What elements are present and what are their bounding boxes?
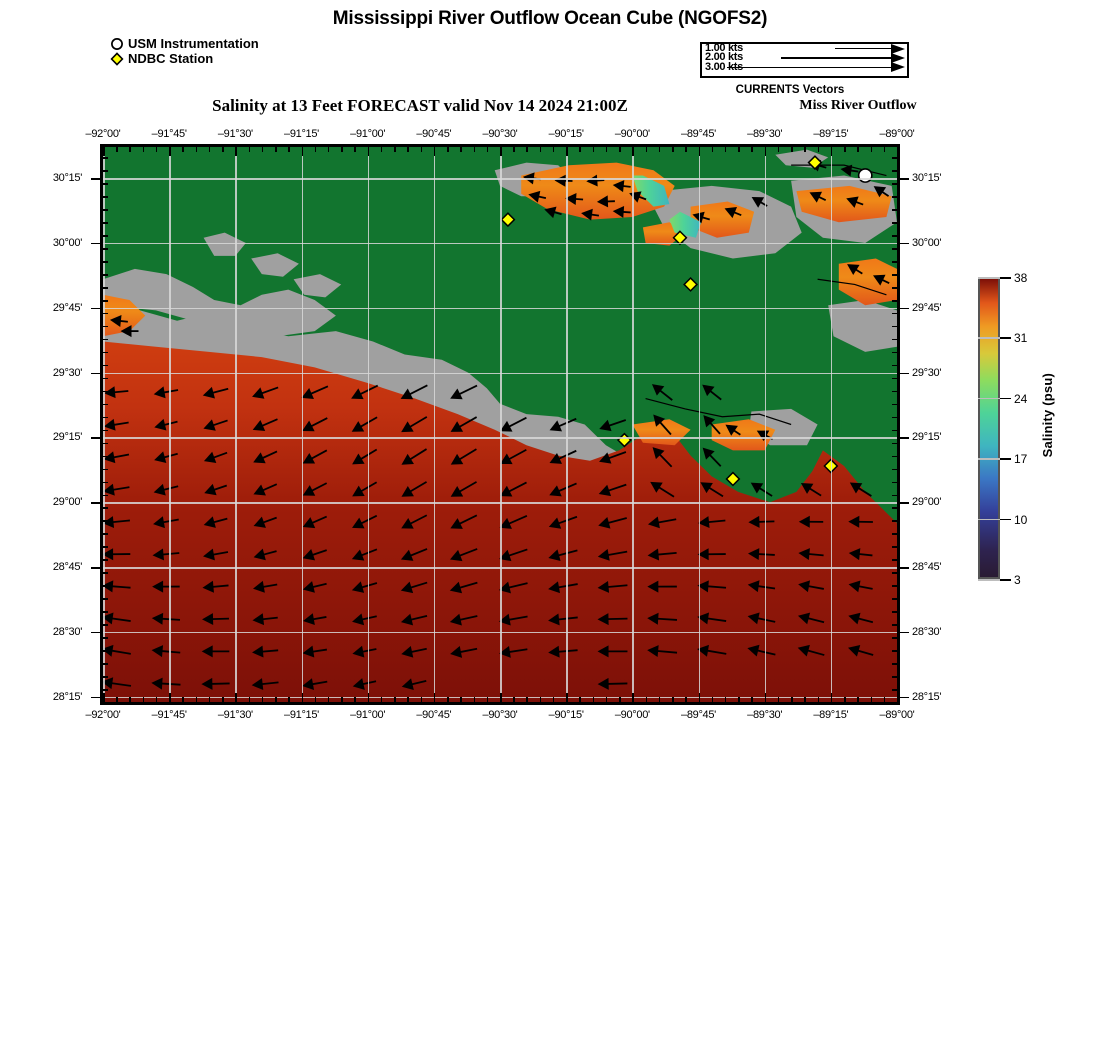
axis-tick-minor (791, 147, 793, 152)
axis-tick-major (91, 308, 100, 310)
axis-tick-minor (447, 697, 449, 702)
axis-label-latitude: 28°30' (22, 626, 82, 638)
axis-tick-minor (103, 507, 108, 509)
axis-label-longitude: –89°45' (664, 709, 734, 721)
axis-tick-minor (262, 697, 264, 702)
axis-label-latitude: 28°45' (22, 561, 82, 573)
vector-key-shaft (727, 67, 891, 68)
axis-tick-minor (892, 274, 897, 276)
axis-tick-minor (103, 313, 108, 315)
colorbar: Salinity (psu) 31017243138 (978, 277, 1000, 579)
colorbar-tick (1000, 579, 1011, 581)
colorbar-title: Salinity (psu) (1040, 373, 1055, 457)
axis-tick-minor (579, 697, 581, 702)
axis-label-latitude: 30°15' (22, 172, 82, 184)
outflow-label: Miss River Outflow (768, 98, 948, 114)
axis-label-longitude: –90°45' (399, 128, 469, 140)
axis-tick-minor (354, 697, 356, 702)
axis-tick-minor (593, 147, 595, 152)
axis-label-latitude: 30°00' (912, 237, 972, 249)
gridline-longitude (169, 147, 171, 702)
axis-tick-minor (222, 697, 224, 702)
axis-tick-minor (354, 147, 356, 152)
axis-tick-minor (892, 495, 897, 497)
axis-tick-minor (892, 430, 897, 432)
axis-tick-minor (778, 147, 780, 152)
station-legend: USM Instrumentation NDBC Station (110, 36, 259, 66)
colorbar-segment-divider (978, 398, 1000, 400)
axis-tick-minor (778, 697, 780, 702)
axis-tick-minor (553, 697, 555, 702)
axis-tick-minor (103, 404, 108, 406)
axis-tick-minor (892, 559, 897, 561)
colorbar-tick-label: 3 (1014, 573, 1021, 585)
axis-tick-minor (421, 697, 423, 702)
axis-tick-minor (892, 157, 897, 159)
axis-tick-minor (892, 235, 897, 237)
axis-tick-major (699, 693, 701, 702)
axis-tick-minor (328, 697, 330, 702)
axis-tick-minor (103, 378, 108, 380)
axis-label-longitude: –92°00' (68, 709, 138, 721)
axis-tick-minor (103, 170, 108, 172)
axis-tick-major (434, 693, 436, 702)
gridline-longitude (235, 147, 237, 702)
gridline-longitude (103, 147, 105, 702)
axis-tick-minor (103, 676, 108, 678)
axis-tick-minor (103, 520, 108, 522)
axis-label-longitude: –90°15' (531, 709, 601, 721)
gridline-longitude (831, 147, 833, 702)
axis-tick-minor (103, 650, 108, 652)
axis-tick-minor (513, 697, 515, 702)
axis-tick-minor (196, 697, 198, 702)
circle-marker-icon (110, 37, 124, 51)
axis-tick-minor (892, 339, 897, 341)
axis-tick-minor (892, 702, 897, 704)
axis-tick-minor (892, 482, 897, 484)
axis-tick-minor (129, 697, 131, 702)
axis-tick-minor (103, 663, 108, 665)
axis-label-longitude: –90°00' (597, 709, 667, 721)
axis-tick-minor (288, 697, 290, 702)
axis-tick-major (91, 437, 100, 439)
axis-tick-minor (103, 689, 108, 691)
usm-instrumentation-marker[interactable] (859, 169, 872, 182)
diamond-marker-icon (110, 52, 124, 66)
axis-label-longitude: –90°00' (597, 128, 667, 140)
axis-tick-minor (884, 697, 886, 702)
colorbar-tick-label: 38 (1014, 271, 1027, 283)
axis-tick-minor (857, 147, 859, 152)
axis-tick-minor (540, 697, 542, 702)
axis-tick-minor (540, 147, 542, 152)
axis-label-longitude: –89°15' (796, 128, 866, 140)
axis-tick-minor (103, 430, 108, 432)
axis-tick-minor (103, 702, 108, 704)
axis-tick-minor (672, 697, 674, 702)
axis-tick-minor (103, 274, 108, 276)
axis-tick-minor (892, 209, 897, 211)
axis-label-longitude: –89°30' (730, 709, 800, 721)
axis-tick-minor (725, 697, 727, 702)
axis-tick-major (831, 147, 833, 156)
axis-tick-minor (892, 391, 897, 393)
axis-tick-major (235, 147, 237, 156)
axis-tick-major (900, 567, 909, 569)
axis-tick-minor (892, 300, 897, 302)
axis-tick-minor (892, 650, 897, 652)
axis-tick-minor (460, 147, 462, 152)
axis-tick-minor (818, 147, 820, 152)
axis-tick-major (103, 693, 105, 702)
axis-tick-minor (725, 147, 727, 152)
axis-label-latitude: 28°30' (912, 626, 972, 638)
axis-tick-major (103, 147, 105, 156)
axis-tick-major (900, 373, 909, 375)
axis-tick-major (900, 437, 909, 439)
axis-tick-minor (892, 546, 897, 548)
axis-tick-minor (553, 147, 555, 152)
axis-label-latitude: 29°45' (912, 302, 972, 314)
axis-tick-minor (659, 697, 661, 702)
colorbar-segment-divider (978, 277, 1000, 279)
axis-tick-minor (892, 313, 897, 315)
axis-tick-major (91, 178, 100, 180)
colorbar-tick-label: 10 (1014, 513, 1027, 525)
axis-label-longitude: –91°45' (134, 128, 204, 140)
axis-label-latitude: 29°00' (912, 496, 972, 508)
axis-tick-minor (579, 147, 581, 152)
axis-tick-minor (646, 697, 648, 702)
axis-tick-minor (892, 585, 897, 587)
colorbar-tick (1000, 277, 1011, 279)
colorbar-tick-label: 31 (1014, 331, 1027, 343)
axis-tick-minor (103, 443, 108, 445)
axis-tick-minor (474, 147, 476, 152)
axis-tick-minor (328, 147, 330, 152)
map-canvas (103, 147, 897, 702)
axis-tick-minor (593, 697, 595, 702)
chart-subtitle: Salinity at 13 Feet FORECAST valid Nov 1… (0, 96, 840, 116)
axis-tick-major (831, 693, 833, 702)
vector-key-caption: CURRENTS Vectors (700, 84, 880, 96)
gridline-longitude (368, 147, 370, 702)
axis-tick-minor (103, 183, 108, 185)
axis-tick-minor (751, 147, 753, 152)
axis-tick-minor (892, 507, 897, 509)
axis-label-longitude: –91°15' (267, 128, 337, 140)
axis-tick-minor (275, 697, 277, 702)
axis-tick-major (235, 693, 237, 702)
axis-tick-minor (892, 365, 897, 367)
axis-tick-minor (871, 697, 873, 702)
axis-tick-minor (182, 697, 184, 702)
gridline-longitude (434, 147, 436, 702)
colorbar-segment-divider (978, 337, 1000, 339)
axis-tick-minor (143, 697, 145, 702)
axis-label-longitude: –89°00' (862, 709, 932, 721)
axis-tick-minor (103, 456, 108, 458)
axis-tick-major (91, 697, 100, 699)
axis-tick-minor (103, 339, 108, 341)
axis-tick-minor (103, 352, 108, 354)
axis-label-longitude: –91°30' (200, 128, 270, 140)
axis-tick-minor (394, 147, 396, 152)
axis-tick-minor (288, 147, 290, 152)
axis-label-longitude: –91°00' (333, 709, 403, 721)
axis-tick-major (900, 178, 909, 180)
gridline-latitude (103, 243, 897, 245)
axis-tick-major (500, 693, 502, 702)
axis-tick-minor (751, 697, 753, 702)
axis-label-longitude: –90°30' (465, 128, 535, 140)
axis-label-latitude: 28°15' (22, 691, 82, 703)
axis-tick-minor (892, 663, 897, 665)
axis-tick-minor (892, 611, 897, 613)
axis-label-longitude: –91°45' (134, 709, 204, 721)
gridline-latitude (103, 373, 897, 375)
axis-tick-minor (103, 585, 108, 587)
axis-tick-minor (103, 235, 108, 237)
axis-tick-minor (892, 689, 897, 691)
axis-tick-minor (892, 676, 897, 678)
vector-key-shaft (835, 48, 891, 49)
gridline-latitude (103, 308, 897, 310)
gridline-latitude (103, 567, 897, 569)
axis-tick-minor (262, 147, 264, 152)
axis-tick-minor (315, 697, 317, 702)
axis-tick-major (632, 147, 634, 156)
axis-tick-minor (892, 456, 897, 458)
axis-label-longitude: –91°15' (267, 709, 337, 721)
axis-tick-minor (209, 697, 211, 702)
colorbar-tick-label: 17 (1014, 452, 1027, 464)
axis-tick-major (302, 693, 304, 702)
axis-tick-minor (103, 326, 108, 328)
vector-key-shaft (781, 57, 891, 58)
axis-tick-minor (103, 222, 108, 224)
axis-tick-minor (381, 147, 383, 152)
axis-label-latitude: 29°30' (22, 367, 82, 379)
legend-label-usm: USM Instrumentation (128, 36, 259, 51)
axis-tick-minor (659, 147, 661, 152)
axis-tick-minor (275, 147, 277, 152)
axis-tick-minor (804, 697, 806, 702)
colorbar-segment-divider (978, 579, 1000, 581)
axis-tick-minor (892, 287, 897, 289)
axis-tick-minor (804, 147, 806, 152)
axis-tick-minor (103, 624, 108, 626)
axis-label-latitude: 30°00' (22, 237, 82, 249)
axis-tick-minor (103, 469, 108, 471)
axis-label-latitude: 29°45' (22, 302, 82, 314)
axis-tick-minor (103, 196, 108, 198)
legend-item-usm: USM Instrumentation (110, 36, 259, 51)
axis-tick-major (91, 632, 100, 634)
colorbar-segment-divider (978, 519, 1000, 521)
axis-label-longitude: –89°30' (730, 128, 800, 140)
axis-tick-minor (606, 697, 608, 702)
axis-label-latitude: 29°00' (22, 496, 82, 508)
axis-tick-minor (892, 417, 897, 419)
axis-tick-major (765, 693, 767, 702)
gridline-latitude (103, 437, 897, 439)
axis-label-longitude: –89°00' (862, 128, 932, 140)
axis-tick-major (500, 147, 502, 156)
gridline-longitude (500, 147, 502, 702)
axis-tick-major (91, 502, 100, 504)
axis-label-longitude: –91°30' (200, 709, 270, 721)
axis-tick-minor (447, 147, 449, 152)
axis-tick-minor (892, 624, 897, 626)
axis-tick-minor (892, 469, 897, 471)
axis-tick-minor (407, 697, 409, 702)
colorbar-segment-divider (978, 458, 1000, 460)
axis-tick-minor (103, 417, 108, 419)
axis-tick-major (91, 567, 100, 569)
axis-tick-minor (685, 697, 687, 702)
axis-tick-minor (487, 697, 489, 702)
axis-tick-minor (129, 147, 131, 152)
colorbar-gradient (978, 277, 1000, 579)
axis-tick-minor (892, 598, 897, 600)
axis-tick-minor (892, 520, 897, 522)
axis-tick-minor (103, 546, 108, 548)
vector-scale-key: 1.00 kts2.00 kts3.00 kts (700, 42, 909, 78)
axis-tick-minor (143, 147, 145, 152)
axis-tick-major (900, 632, 909, 634)
axis-tick-minor (103, 598, 108, 600)
axis-tick-minor (526, 147, 528, 152)
axis-tick-minor (892, 222, 897, 224)
page-title: Mississippi River Outflow Ocean Cube (NG… (0, 8, 1100, 30)
axis-tick-minor (196, 147, 198, 152)
axis-tick-minor (103, 365, 108, 367)
axis-tick-minor (892, 637, 897, 639)
axis-tick-minor (103, 157, 108, 159)
axis-tick-major (169, 693, 171, 702)
axis-tick-minor (738, 697, 740, 702)
axis-tick-major (632, 693, 634, 702)
axis-tick-minor (892, 261, 897, 263)
axis-tick-minor (892, 352, 897, 354)
axis-tick-minor (892, 404, 897, 406)
axis-label-latitude: 30°15' (912, 172, 972, 184)
axis-label-longitude: –90°45' (399, 709, 469, 721)
axis-tick-major (900, 243, 909, 245)
axis-tick-minor (249, 147, 251, 152)
axis-tick-minor (646, 147, 648, 152)
axis-tick-minor (892, 326, 897, 328)
axis-tick-minor (526, 697, 528, 702)
gridline-latitude (103, 178, 897, 180)
gridline-longitude (632, 147, 634, 702)
axis-tick-minor (156, 697, 158, 702)
axis-tick-major (91, 243, 100, 245)
axis-tick-major (169, 147, 171, 156)
axis-tick-minor (222, 147, 224, 152)
axis-label-latitude: 28°15' (912, 691, 972, 703)
axis-label-longitude: –91°00' (333, 128, 403, 140)
axis-tick-minor (249, 697, 251, 702)
axis-tick-minor (606, 147, 608, 152)
axis-tick-minor (844, 697, 846, 702)
axis-tick-minor (103, 391, 108, 393)
axis-tick-minor (394, 697, 396, 702)
gridline-longitude (699, 147, 701, 702)
colorbar-tick (1000, 398, 1011, 400)
axis-tick-major (897, 693, 899, 702)
axis-tick-major (699, 147, 701, 156)
axis-tick-minor (103, 261, 108, 263)
axis-tick-major (302, 147, 304, 156)
axis-tick-minor (791, 697, 793, 702)
axis-tick-minor (857, 697, 859, 702)
gridline-longitude (765, 147, 767, 702)
legend-item-ndbc: NDBC Station (110, 51, 259, 66)
axis-tick-minor (672, 147, 674, 152)
axis-tick-minor (116, 147, 118, 152)
axis-tick-minor (103, 248, 108, 250)
axis-label-latitude: 29°15' (912, 431, 972, 443)
axis-tick-major (368, 693, 370, 702)
axis-tick-minor (116, 697, 118, 702)
colorbar-tick (1000, 519, 1011, 521)
axis-tick-major (566, 147, 568, 156)
axis-tick-minor (884, 147, 886, 152)
axis-tick-major (765, 147, 767, 156)
axis-label-latitude: 29°30' (912, 367, 972, 379)
axis-tick-minor (871, 147, 873, 152)
axis-tick-minor (892, 196, 897, 198)
colorbar-tick-label: 24 (1014, 392, 1027, 404)
axis-label-longitude: –92°00' (68, 128, 138, 140)
axis-tick-minor (460, 697, 462, 702)
axis-tick-minor (892, 533, 897, 535)
axis-label-longitude: –90°30' (465, 709, 535, 721)
axis-tick-minor (818, 697, 820, 702)
axis-tick-minor (513, 147, 515, 152)
axis-tick-major (91, 373, 100, 375)
axis-tick-minor (103, 533, 108, 535)
vector-key-arrowhead (891, 62, 905, 72)
axis-tick-major (900, 697, 909, 699)
colorbar-tick (1000, 337, 1011, 339)
axis-tick-minor (103, 572, 108, 574)
axis-tick-minor (892, 248, 897, 250)
axis-tick-major (566, 693, 568, 702)
axis-tick-minor (712, 697, 714, 702)
axis-tick-minor (892, 183, 897, 185)
axis-tick-minor (103, 209, 108, 211)
axis-tick-minor (341, 697, 343, 702)
axis-tick-minor (103, 300, 108, 302)
gridline-longitude (897, 147, 899, 702)
axis-tick-major (897, 147, 899, 156)
axis-tick-minor (103, 482, 108, 484)
axis-tick-minor (209, 147, 211, 152)
axis-tick-minor (892, 443, 897, 445)
axis-tick-minor (474, 697, 476, 702)
axis-tick-minor (156, 147, 158, 152)
axis-tick-minor (103, 495, 108, 497)
gridline-longitude (566, 147, 568, 702)
axis-tick-major (368, 147, 370, 156)
axis-tick-minor (487, 147, 489, 152)
gridline-latitude (103, 632, 897, 634)
axis-tick-major (900, 502, 909, 504)
